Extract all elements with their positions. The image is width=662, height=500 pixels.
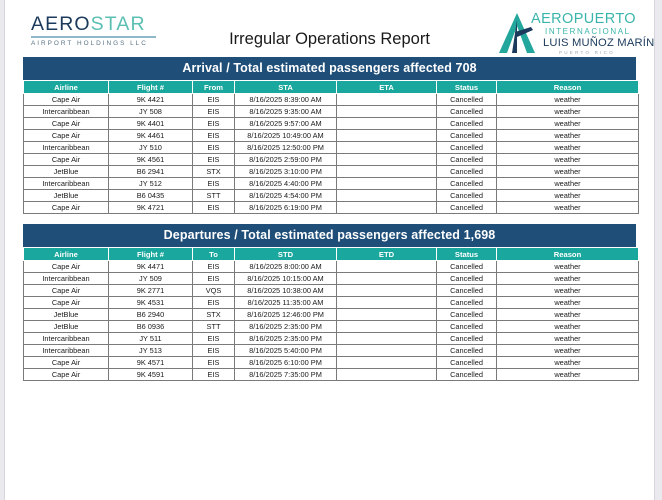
table-cell: B6 2941 <box>109 166 193 178</box>
table-cell: Cancelled <box>437 261 497 273</box>
table-cell: Cancelled <box>437 94 497 106</box>
table-cell <box>337 273 437 285</box>
table-cell: 8/16/2025 6:10:00 PM <box>235 357 337 369</box>
departures-table-head: AirlineFlight #ToSTDETDStatusReason <box>24 248 639 261</box>
table-cell: JY 509 <box>109 273 193 285</box>
table-cell: weather <box>497 321 639 333</box>
table-cell: 8/16/2025 5:40:00 PM <box>235 345 337 357</box>
table-cell: Cancelled <box>437 130 497 142</box>
table-row: IntercaribbeanJY 513EIS8/16/2025 5:40:00… <box>24 345 639 357</box>
table-cell: 8/16/2025 10:15:00 AM <box>235 273 337 285</box>
table-cell: STT <box>193 321 235 333</box>
table-cell: 8/16/2025 9:57:00 AM <box>235 118 337 130</box>
table-cell: 8/16/2025 2:35:00 PM <box>235 333 337 345</box>
table-cell: EIS <box>193 94 235 106</box>
table-cell: Cancelled <box>437 142 497 154</box>
table-cell: Cancelled <box>437 273 497 285</box>
table-row: JetBlueB6 2941STX8/16/2025 3:10:00 PMCan… <box>24 166 639 178</box>
table-cell: Cape Air <box>24 202 109 214</box>
table-cell <box>337 345 437 357</box>
table-cell: 9K 4531 <box>109 297 193 309</box>
table-cell: 8/16/2025 8:00:00 AM <box>235 261 337 273</box>
aeropuerto-logo: AEROPUERTO INTERNACIONAL LUIS MUÑOZ MARÍ… <box>497 10 647 56</box>
table-cell: Intercaribbean <box>24 345 109 357</box>
table-cell: Cape Air <box>24 369 109 381</box>
aeropuerto-logo-line3: LUIS MUÑOZ MARÍN <box>531 37 649 49</box>
table-row: IntercaribbeanJY 510EIS8/16/2025 12:50:0… <box>24 142 639 154</box>
table-cell: 9K 2771 <box>109 285 193 297</box>
table-cell <box>337 118 437 130</box>
table-cell <box>337 333 437 345</box>
table-cell: 9K 4461 <box>109 130 193 142</box>
table-cell: B6 2940 <box>109 309 193 321</box>
table-cell: Cancelled <box>437 297 497 309</box>
table-cell: EIS <box>193 106 235 118</box>
table-cell: 8/16/2025 10:49:00 AM <box>235 130 337 142</box>
table-cell: Cancelled <box>437 190 497 202</box>
arrivals-banner: Arrival / Total estimated passengers aff… <box>23 57 636 80</box>
table-row: Cape Air9K 4461EIS8/16/2025 10:49:00 AMC… <box>24 130 639 142</box>
table-row: JetBlueB6 0936STT8/16/2025 2:35:00 PMCan… <box>24 321 639 333</box>
column-header-reason: Reason <box>497 81 639 94</box>
table-row: Cape Air9K 4471EIS8/16/2025 8:00:00 AMCa… <box>24 261 639 273</box>
table-cell: EIS <box>193 118 235 130</box>
arrivals-table-body: Cape Air9K 4421EIS8/16/2025 8:39:00 AMCa… <box>24 94 639 214</box>
table-cell <box>337 357 437 369</box>
table-cell: JetBlue <box>24 321 109 333</box>
table-cell: Intercaribbean <box>24 106 109 118</box>
table-cell <box>337 202 437 214</box>
arrivals-table: AirlineFlight #FromSTAETAStatusReason Ca… <box>23 80 639 214</box>
table-cell <box>337 369 437 381</box>
aeropuerto-logo-text: AEROPUERTO INTERNACIONAL LUIS MUÑOZ MARÍ… <box>531 12 649 56</box>
table-cell: STT <box>193 190 235 202</box>
table-row: Cape Air9K 4591EIS8/16/2025 7:35:00 PMCa… <box>24 369 639 381</box>
table-cell: Intercaribbean <box>24 142 109 154</box>
table-cell: 8/16/2025 3:10:00 PM <box>235 166 337 178</box>
table-cell: EIS <box>193 333 235 345</box>
table-cell: Cancelled <box>437 369 497 381</box>
table-cell <box>337 309 437 321</box>
table-cell: Intercaribbean <box>24 273 109 285</box>
table-cell: EIS <box>193 261 235 273</box>
table-cell: 8/16/2025 4:40:00 PM <box>235 178 337 190</box>
table-row: Cape Air9K 4401EIS8/16/2025 9:57:00 AMCa… <box>24 118 639 130</box>
table-cell: weather <box>497 142 639 154</box>
arrivals-header-row: AirlineFlight #FromSTAETAStatusReason <box>24 81 639 94</box>
table-cell: JetBlue <box>24 166 109 178</box>
table-cell: Intercaribbean <box>24 333 109 345</box>
report-page: AEROSTAR AIRPORT HOLDINGS LLC Irregular … <box>4 0 655 500</box>
arrivals-section: Arrival / Total estimated passengers aff… <box>23 57 636 214</box>
table-cell <box>337 190 437 202</box>
table-row: Cape Air9K 4721EIS8/16/2025 6:19:00 PMCa… <box>24 202 639 214</box>
table-cell: Cancelled <box>437 309 497 321</box>
table-cell <box>337 130 437 142</box>
table-cell <box>337 142 437 154</box>
table-cell: Cape Air <box>24 94 109 106</box>
table-row: Cape Air9K 4561EIS8/16/2025 2:59:00 PMCa… <box>24 154 639 166</box>
table-cell: Cape Air <box>24 154 109 166</box>
aeropuerto-logo-line1: AEROPUERTO <box>531 12 649 26</box>
table-row: IntercaribbeanJY 512EIS8/16/2025 4:40:00… <box>24 178 639 190</box>
table-cell: 8/16/2025 2:59:00 PM <box>235 154 337 166</box>
table-cell: JY 512 <box>109 178 193 190</box>
table-cell: 8/16/2025 12:50:00 PM <box>235 142 337 154</box>
table-cell: weather <box>497 178 639 190</box>
table-cell: STX <box>193 166 235 178</box>
table-cell: JY 513 <box>109 345 193 357</box>
table-cell: weather <box>497 369 639 381</box>
departures-table: AirlineFlight #ToSTDETDStatusReason Cape… <box>23 247 639 381</box>
table-cell: weather <box>497 118 639 130</box>
table-cell: weather <box>497 166 639 178</box>
table-row: JetBlueB6 2940STX8/16/2025 12:46:00 PMCa… <box>24 309 639 321</box>
table-cell: B6 0435 <box>109 190 193 202</box>
table-cell: 8/16/2025 4:54:00 PM <box>235 190 337 202</box>
table-cell: Cancelled <box>437 154 497 166</box>
table-row: Cape Air9K 4421EIS8/16/2025 8:39:00 AMCa… <box>24 94 639 106</box>
table-cell <box>337 166 437 178</box>
arrivals-table-head: AirlineFlight #FromSTAETAStatusReason <box>24 81 639 94</box>
table-row: Cape Air9K 4571EIS8/16/2025 6:10:00 PMCa… <box>24 357 639 369</box>
table-cell: weather <box>497 202 639 214</box>
table-cell: JetBlue <box>24 190 109 202</box>
table-cell: 9K 4721 <box>109 202 193 214</box>
table-cell <box>337 261 437 273</box>
table-cell: EIS <box>193 142 235 154</box>
column-header-to: To <box>193 248 235 261</box>
column-header-std: STD <box>235 248 337 261</box>
table-cell: 8/16/2025 2:35:00 PM <box>235 321 337 333</box>
table-cell: JY 510 <box>109 142 193 154</box>
table-cell: Cape Air <box>24 357 109 369</box>
table-cell: Cancelled <box>437 345 497 357</box>
table-row: IntercaribbeanJY 508EIS8/16/2025 9:35:00… <box>24 106 639 118</box>
table-cell: EIS <box>193 202 235 214</box>
column-header-flight: Flight # <box>109 81 193 94</box>
table-cell <box>337 178 437 190</box>
table-cell: Cancelled <box>437 357 497 369</box>
table-cell: 8/16/2025 10:38:00 AM <box>235 285 337 297</box>
table-cell: Cape Air <box>24 285 109 297</box>
table-cell: Cancelled <box>437 166 497 178</box>
report-header: AEROSTAR AIRPORT HOLDINGS LLC Irregular … <box>5 0 654 57</box>
table-cell: weather <box>497 130 639 142</box>
departures-banner: Departures / Total estimated passengers … <box>23 224 636 247</box>
table-cell: EIS <box>193 369 235 381</box>
table-cell: EIS <box>193 178 235 190</box>
column-header-etd: ETD <box>337 248 437 261</box>
table-cell: 8/16/2025 9:35:00 AM <box>235 106 337 118</box>
table-cell: weather <box>497 285 639 297</box>
table-cell: weather <box>497 261 639 273</box>
column-header-eta: ETA <box>337 81 437 94</box>
table-cell: EIS <box>193 297 235 309</box>
table-cell <box>337 94 437 106</box>
table-cell: JY 508 <box>109 106 193 118</box>
table-cell: Cancelled <box>437 106 497 118</box>
table-cell: 9K 4471 <box>109 261 193 273</box>
table-cell: JY 511 <box>109 333 193 345</box>
table-cell: Cancelled <box>437 321 497 333</box>
table-cell: 8/16/2025 12:46:00 PM <box>235 309 337 321</box>
column-header-flight: Flight # <box>109 248 193 261</box>
table-cell: B6 0936 <box>109 321 193 333</box>
table-cell: weather <box>497 190 639 202</box>
table-cell: Cancelled <box>437 333 497 345</box>
column-header-from: From <box>193 81 235 94</box>
table-cell: 9K 4401 <box>109 118 193 130</box>
column-header-airline: Airline <box>24 81 109 94</box>
aeropuerto-logo-line4: PUERTO RICO <box>531 49 649 56</box>
departures-section: Departures / Total estimated passengers … <box>23 224 636 381</box>
table-cell: Cape Air <box>24 297 109 309</box>
table-cell <box>337 285 437 297</box>
table-cell: Cape Air <box>24 130 109 142</box>
departures-header-row: AirlineFlight #ToSTDETDStatusReason <box>24 248 639 261</box>
table-cell: weather <box>497 345 639 357</box>
table-cell: EIS <box>193 345 235 357</box>
table-cell: JetBlue <box>24 309 109 321</box>
table-cell: Intercaribbean <box>24 178 109 190</box>
table-cell: Cape Air <box>24 118 109 130</box>
table-cell <box>337 154 437 166</box>
table-cell: EIS <box>193 273 235 285</box>
table-cell: STX <box>193 309 235 321</box>
table-cell: EIS <box>193 154 235 166</box>
table-cell: 8/16/2025 7:35:00 PM <box>235 369 337 381</box>
column-header-status: Status <box>437 81 497 94</box>
table-row: IntercaribbeanJY 511EIS8/16/2025 2:35:00… <box>24 333 639 345</box>
table-cell: Cancelled <box>437 118 497 130</box>
table-cell: 9K 4591 <box>109 369 193 381</box>
table-cell: 9K 4571 <box>109 357 193 369</box>
table-row: Cape Air9K 2771VQS8/16/2025 10:38:00 AMC… <box>24 285 639 297</box>
table-cell: weather <box>497 273 639 285</box>
table-row: JetBlueB6 0435STT8/16/2025 4:54:00 PMCan… <box>24 190 639 202</box>
table-cell: EIS <box>193 130 235 142</box>
table-cell: weather <box>497 94 639 106</box>
table-cell: 9K 4421 <box>109 94 193 106</box>
table-cell: 9K 4561 <box>109 154 193 166</box>
table-cell <box>337 321 437 333</box>
table-cell: 8/16/2025 6:19:00 PM <box>235 202 337 214</box>
table-cell: weather <box>497 309 639 321</box>
table-cell: weather <box>497 106 639 118</box>
table-cell: 8/16/2025 8:39:00 AM <box>235 94 337 106</box>
column-header-reason: Reason <box>497 248 639 261</box>
table-cell: weather <box>497 333 639 345</box>
table-cell: 8/16/2025 11:35:00 AM <box>235 297 337 309</box>
table-row: IntercaribbeanJY 509EIS8/16/2025 10:15:0… <box>24 273 639 285</box>
aeropuerto-logo-line2: INTERNACIONAL <box>531 26 649 37</box>
table-cell: Cancelled <box>437 285 497 297</box>
table-cell: Cape Air <box>24 261 109 273</box>
table-cell: Cancelled <box>437 178 497 190</box>
table-row: Cape Air9K 4531EIS8/16/2025 11:35:00 AMC… <box>24 297 639 309</box>
table-cell: VQS <box>193 285 235 297</box>
table-cell <box>337 297 437 309</box>
departures-table-body: Cape Air9K 4471EIS8/16/2025 8:00:00 AMCa… <box>24 261 639 381</box>
table-cell: weather <box>497 297 639 309</box>
column-header-sta: STA <box>235 81 337 94</box>
table-cell <box>337 106 437 118</box>
column-header-status: Status <box>437 248 497 261</box>
table-cell: EIS <box>193 357 235 369</box>
table-cell: Cancelled <box>437 202 497 214</box>
table-cell: weather <box>497 154 639 166</box>
table-cell: weather <box>497 357 639 369</box>
column-header-airline: Airline <box>24 248 109 261</box>
